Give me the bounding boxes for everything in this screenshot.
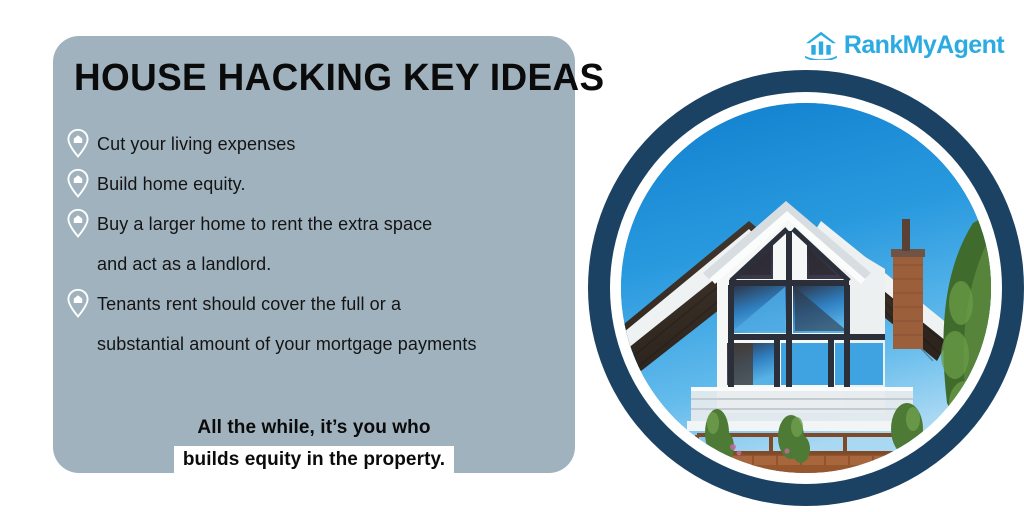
list-item-continuation: substantial amount of your mortgage paym…: [65, 324, 565, 364]
key-ideas-list: Cut your living expenses Build home equi…: [65, 124, 565, 364]
list-item-label: Cut your living expenses: [97, 124, 296, 164]
brand-logo: RankMyAgent: [803, 30, 1004, 60]
page-title: HOUSE HACKING KEY IDEAS: [74, 57, 540, 100]
brand-name: RankMyAgent: [844, 33, 1004, 58]
list-item-label-line2: and act as a landlord.: [97, 244, 271, 284]
location-pin-house-icon: [65, 168, 91, 198]
list-item-label: Buy a larger home to rent the extra spac…: [97, 204, 432, 244]
list-item: Cut your living expenses: [65, 124, 565, 164]
house-bar-chart-icon: [803, 30, 839, 60]
list-item-label: Build home equity.: [97, 164, 246, 204]
list-item-continuation: and act as a landlord.: [65, 244, 565, 284]
closing-line-2-wrap: builds equity in the property.: [53, 446, 575, 475]
list-item: Build home equity.: [65, 164, 565, 204]
location-pin-house-icon: [65, 128, 91, 158]
closing-line-2-highlight: builds equity in the property.: [174, 446, 454, 475]
house-photo-medallion: [588, 70, 1024, 512]
closing-statement: All the while, it’s you who builds equit…: [53, 414, 575, 475]
closing-line-1: All the while, it’s you who: [53, 414, 575, 442]
location-pin-house-icon: [65, 288, 91, 318]
list-item-label: Tenants rent should cover the full or a: [97, 284, 401, 324]
location-pin-house-icon: [65, 208, 91, 238]
key-ideas-card: HOUSE HACKING KEY IDEAS Cut your living …: [53, 36, 575, 473]
house-photo: [621, 103, 991, 473]
list-item: Buy a larger home to rent the extra spac…: [65, 204, 565, 244]
list-item-label-line2: substantial amount of your mortgage paym…: [97, 324, 477, 364]
house-photo-artwork: [621, 103, 991, 473]
list-item: Tenants rent should cover the full or a: [65, 284, 565, 324]
